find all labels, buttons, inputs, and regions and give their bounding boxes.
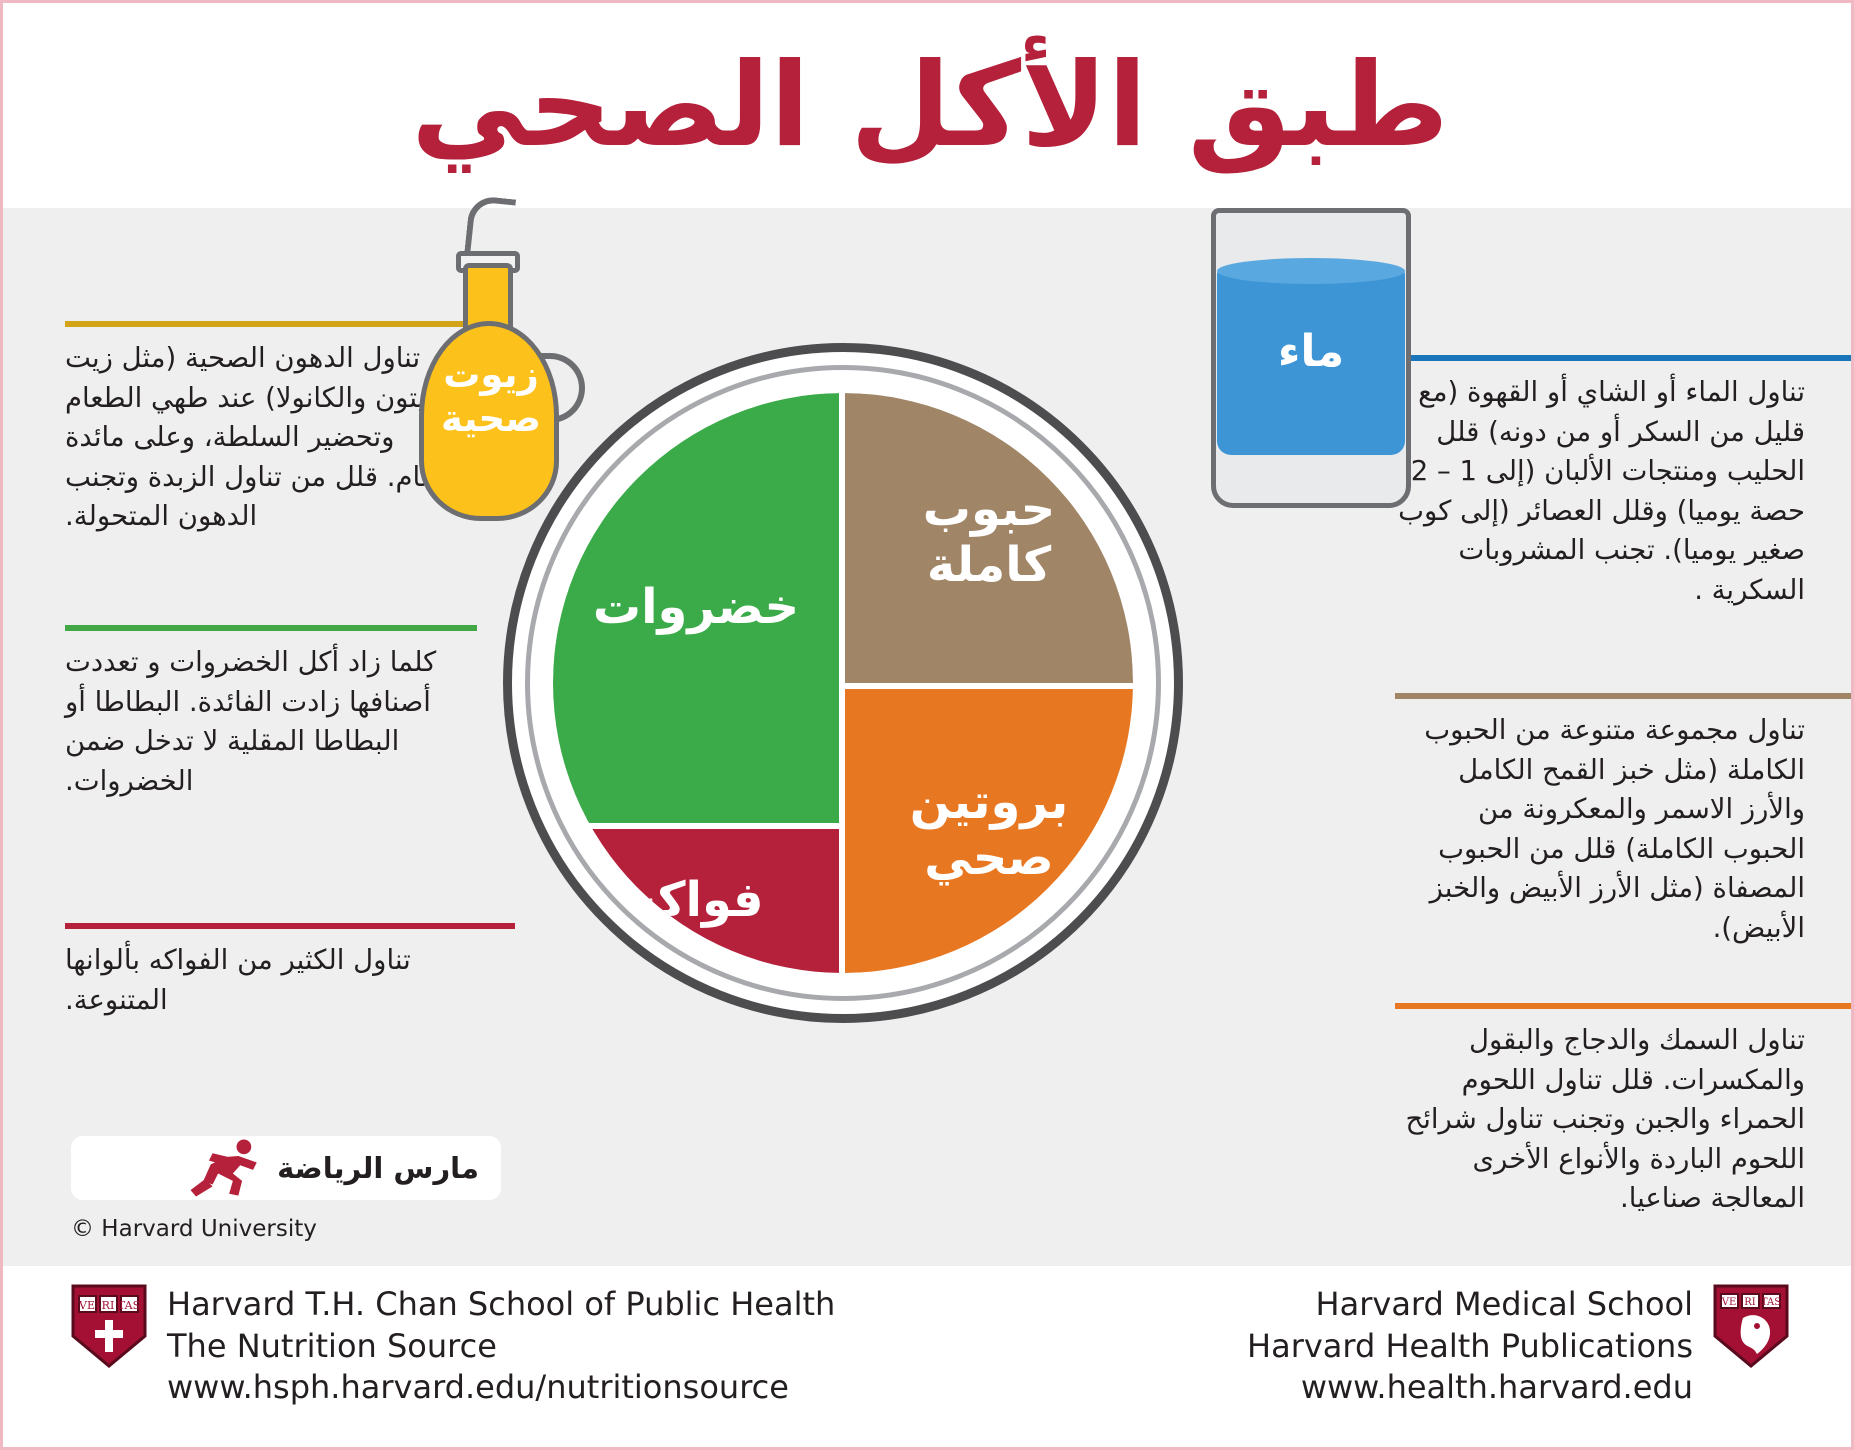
callout-fruits: تناول الكثير من الفواكه بألوانها المتنوع… (65, 923, 515, 1020)
footer: VE RI TAS Harvard T.H. Chan School of Pu… (3, 1266, 1854, 1450)
glass-water-surface (1217, 258, 1405, 284)
plate-label-vegetables: خضروات (593, 580, 799, 636)
footer-left-group: VE RI TAS Harvard T.H. Chan School of Pu… (71, 1284, 835, 1409)
plate-label-protein-line2: صحي (924, 830, 1054, 886)
footer-right-text: Harvard Medical School Harvard Health Pu… (1247, 1284, 1693, 1409)
harvard-shield-icon: VE RI TAS (71, 1284, 147, 1368)
callout-text-vegetables: كلما زاد أكل الخضروات و تعددت أصنافها زا… (65, 643, 477, 801)
copyright-notice: © Harvard University (71, 1216, 317, 1242)
oil-bottle-icon: زيوت صحية (401, 203, 581, 533)
plate-label-grains-line2: كاملة (927, 537, 1051, 593)
svg-text:RI: RI (1744, 1297, 1756, 1308)
svg-text:VE: VE (1721, 1297, 1737, 1308)
callout-rule-water (1395, 355, 1854, 361)
footer-left-line2: The Nutrition Source (167, 1326, 835, 1368)
title-band: طبق الأكل الصحي (3, 3, 1854, 208)
footer-left-line3[interactable]: www.hsph.harvard.edu/nutritionsource (167, 1367, 835, 1409)
oil-bottle-label-line1: زيوت (411, 353, 571, 397)
plate-quadrants: خضروات فواكه حبوب كاملة بروتين صحي (553, 393, 1133, 973)
plate-label-protein-line1: بروتين (910, 774, 1069, 830)
footer-right-line1: Harvard Medical School (1247, 1284, 1693, 1326)
exercise-badge-label: مارس الرياضة (277, 1151, 479, 1185)
callout-rule-grains (1395, 693, 1854, 699)
callout-text-grains: تناول مجموعة متنوعة من الحبوب الكاملة (م… (1395, 711, 1805, 949)
plate-label-grains-line1: حبوب (923, 481, 1056, 537)
oil-bottle-label-line2: صحية (411, 397, 571, 441)
callout-whole-grains: تناول مجموعة متنوعة من الحبوب الكاملة (م… (1395, 693, 1805, 949)
callout-healthy-protein: تناول السمك والدجاج والبقول والمكسرات. ق… (1395, 1003, 1805, 1219)
oil-bottle-label: زيوت صحية (411, 353, 571, 442)
footer-left-text: Harvard T.H. Chan School of Public Healt… (167, 1284, 835, 1409)
plate-section-fruits: فواكه (553, 829, 839, 973)
plate-diagram: خضروات فواكه حبوب كاملة بروتين صحي (503, 343, 1183, 1023)
plate-label-fruits: فواكه (629, 873, 764, 929)
callout-rule-fruits (65, 923, 515, 929)
callout-rule-vegetables (65, 625, 477, 631)
svg-text:VE: VE (78, 1299, 95, 1312)
running-person-icon (185, 1138, 277, 1198)
footer-right-line3[interactable]: www.health.harvard.edu (1247, 1367, 1693, 1409)
plate-section-whole-grains: حبوب كاملة (845, 393, 1133, 683)
footer-left-line1: Harvard T.H. Chan School of Public Healt… (167, 1284, 835, 1326)
water-glass-icon: ماء (1211, 208, 1411, 508)
footer-right-group: Harvard Medical School Harvard Health Pu… (1247, 1284, 1789, 1409)
callout-rule-protein (1395, 1003, 1854, 1009)
water-glass-label: ماء (1211, 326, 1411, 377)
exercise-badge: مارس الرياضة (71, 1136, 501, 1200)
plate-section-protein: بروتين صحي (845, 689, 1133, 973)
svg-text:RI: RI (102, 1299, 115, 1312)
harvard-medical-shield-icon: VE RI TAS (1713, 1284, 1789, 1368)
page-title: طبق الأكل الصحي (411, 45, 1449, 167)
callout-vegetables: كلما زاد أكل الخضروات و تعددت أصنافها زا… (65, 625, 477, 801)
svg-text:TAS: TAS (118, 1299, 140, 1312)
healthy-eating-plate-poster: طبق الأكل الصحي تناول الدهون الصحية (مثل… (0, 0, 1854, 1450)
callout-water: تناول الماء أو الشاي أو القهوة (مع قليل … (1395, 355, 1805, 611)
callout-text-protein: تناول السمك والدجاج والبقول والمكسرات. ق… (1395, 1021, 1805, 1219)
svg-text:TAS: TAS (1761, 1297, 1781, 1308)
footer-right-line2: Harvard Health Publications (1247, 1326, 1693, 1368)
callout-text-fruits: تناول الكثير من الفواكه بألوانها المتنوع… (65, 941, 515, 1020)
callout-text-water: تناول الماء أو الشاي أو القهوة (مع قليل … (1395, 373, 1805, 611)
